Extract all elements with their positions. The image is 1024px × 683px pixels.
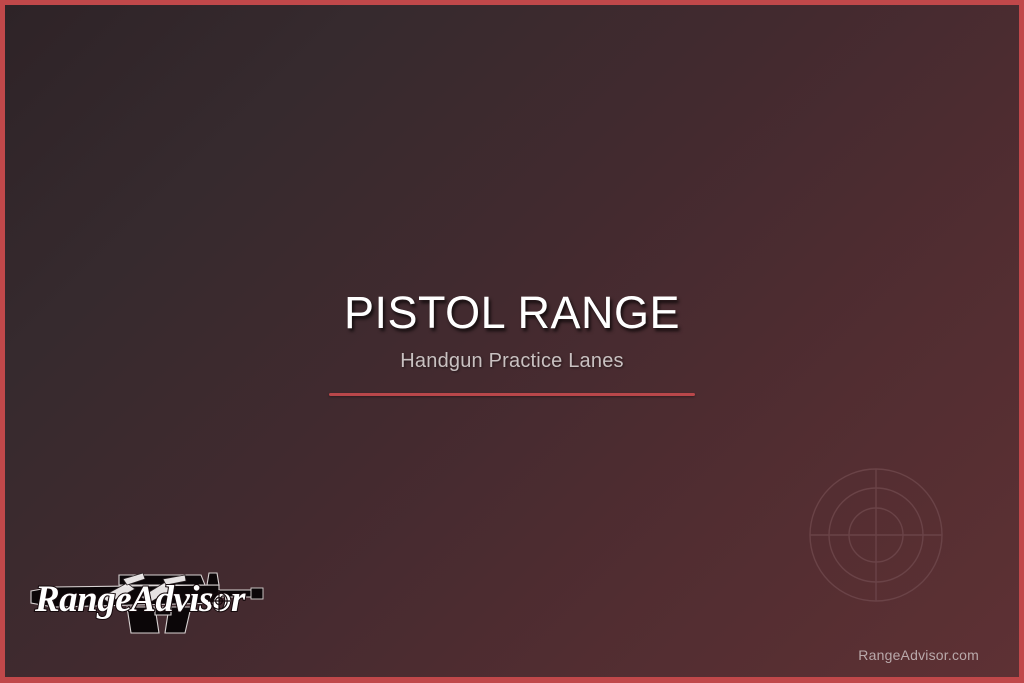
- crosshair-target-icon: [800, 459, 952, 611]
- page-title: PISTOL RANGE: [5, 289, 1019, 338]
- title-block: PISTOL RANGE Handgun Practice Lanes: [5, 289, 1019, 396]
- logo-wordmark: RangeAdvisor: [34, 579, 246, 620]
- presentation-slide: PISTOL RANGE Handgun Practice Lanes: [0, 0, 1024, 683]
- rifle-silhouette-logo: RangeAdvisor: [23, 557, 271, 635]
- page-subtitle: Handgun Practice Lanes: [5, 350, 1019, 373]
- slide-canvas: PISTOL RANGE Handgun Practice Lanes: [5, 5, 1019, 677]
- footer-url: RangeAdvisor.com: [858, 647, 979, 663]
- title-divider: [329, 393, 695, 396]
